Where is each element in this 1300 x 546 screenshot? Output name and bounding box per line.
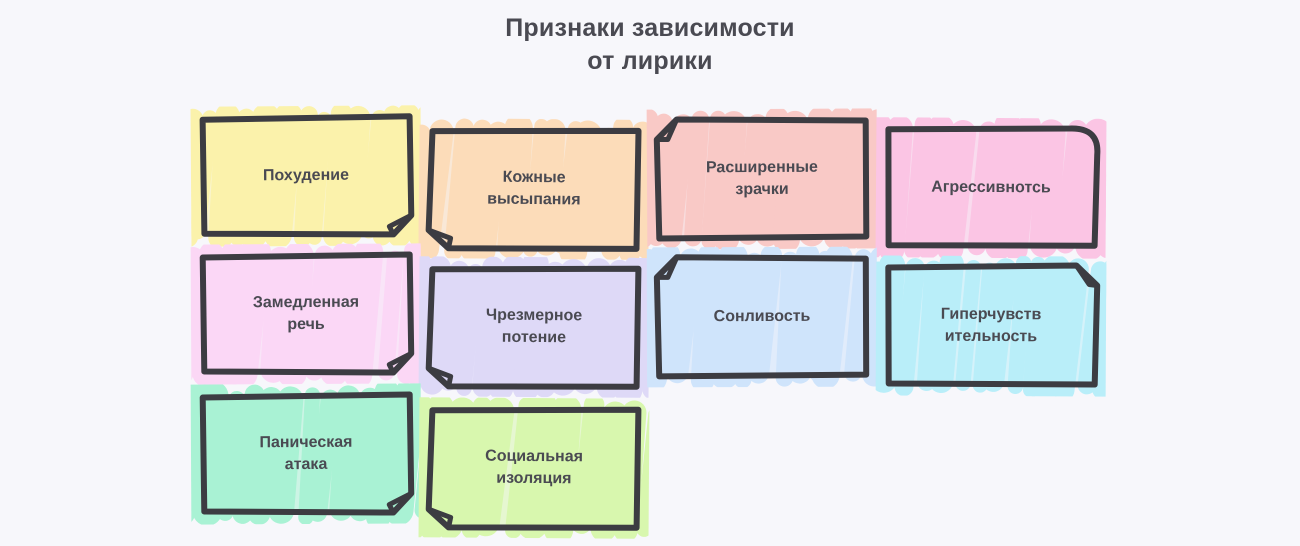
symptom-card-label-hypersensitivity: Гиперчувствительность xyxy=(888,267,1095,384)
symptom-card-label-skin-rash: Кожныевысыпания xyxy=(430,130,637,248)
symptom-card-weight-loss[interactable]: Похудение xyxy=(203,117,410,234)
symptom-card-label-weight-loss: Похудение xyxy=(203,117,410,234)
symptom-card-aggressiveness[interactable]: Агрессивнотсь xyxy=(888,129,1095,246)
symptom-card-label-social-isolation: Социальнаяизоляция xyxy=(431,409,638,526)
symptom-label-line-1: Замедленная xyxy=(253,292,359,315)
symptom-label-line-1: Сонливость xyxy=(714,306,811,328)
symptom-card-skin-rash[interactable]: Кожныевысыпания xyxy=(430,130,637,248)
symptom-card-social-isolation[interactable]: Социальнаяизоляция xyxy=(431,409,638,526)
symptom-card-label-drowsiness: Сонливость xyxy=(659,259,865,376)
symptom-card-label-excessive-sweating: Чрезмерноепотение xyxy=(431,268,638,385)
symptom-label-line-2: высыпания xyxy=(487,189,581,212)
symptom-label-line-2: ительность xyxy=(941,326,1042,349)
symptom-label-line-1: Паническая xyxy=(259,432,352,455)
symptom-label-line-2: речь xyxy=(253,314,359,337)
symptom-card-slow-speech[interactable]: Замедленнаяречь xyxy=(203,255,410,372)
symptom-card-hypersensitivity[interactable]: Гиперчувствительность xyxy=(888,267,1095,384)
symptom-label-line-1: Гиперчувств xyxy=(941,304,1042,327)
symptom-card-drowsiness[interactable]: Сонливость xyxy=(659,259,865,376)
symptom-label-line-2: потение xyxy=(486,327,582,350)
symptom-card-excessive-sweating[interactable]: Чрезмерноепотение xyxy=(431,268,638,385)
symptom-label-line-1: Агрессивнотсь xyxy=(931,177,1051,200)
symptom-card-label-aggressiveness: Агрессивнотсь xyxy=(888,129,1095,246)
symptom-card-label-slow-speech: Замедленнаяречь xyxy=(203,255,410,372)
symptom-label-line-1: Похудение xyxy=(263,165,349,188)
symptom-label-line-1: Расширенные xyxy=(706,157,818,180)
symptom-card-dilated-pupils[interactable]: Расширенныезрачки xyxy=(659,120,866,237)
symptom-label-line-2: изоляция xyxy=(485,468,583,491)
symptom-label-line-1: Социальная xyxy=(485,446,583,469)
symptom-card-panic-attack[interactable]: Паническаяатака xyxy=(203,395,410,512)
symptom-card-label-panic-attack: Паническаяатака xyxy=(203,395,410,512)
symptom-label-line-2: зрачки xyxy=(706,179,818,202)
symptom-card-label-dilated-pupils: Расширенныезрачки xyxy=(659,120,866,237)
symptom-card-board: ПохудениеКожныевысыпанияРасширенныезрачк… xyxy=(0,0,1300,546)
symptom-label-line-1: Чрезмерное xyxy=(486,305,582,328)
symptom-label-line-1: Кожные xyxy=(487,167,581,190)
symptom-label-line-2: атака xyxy=(259,454,352,477)
